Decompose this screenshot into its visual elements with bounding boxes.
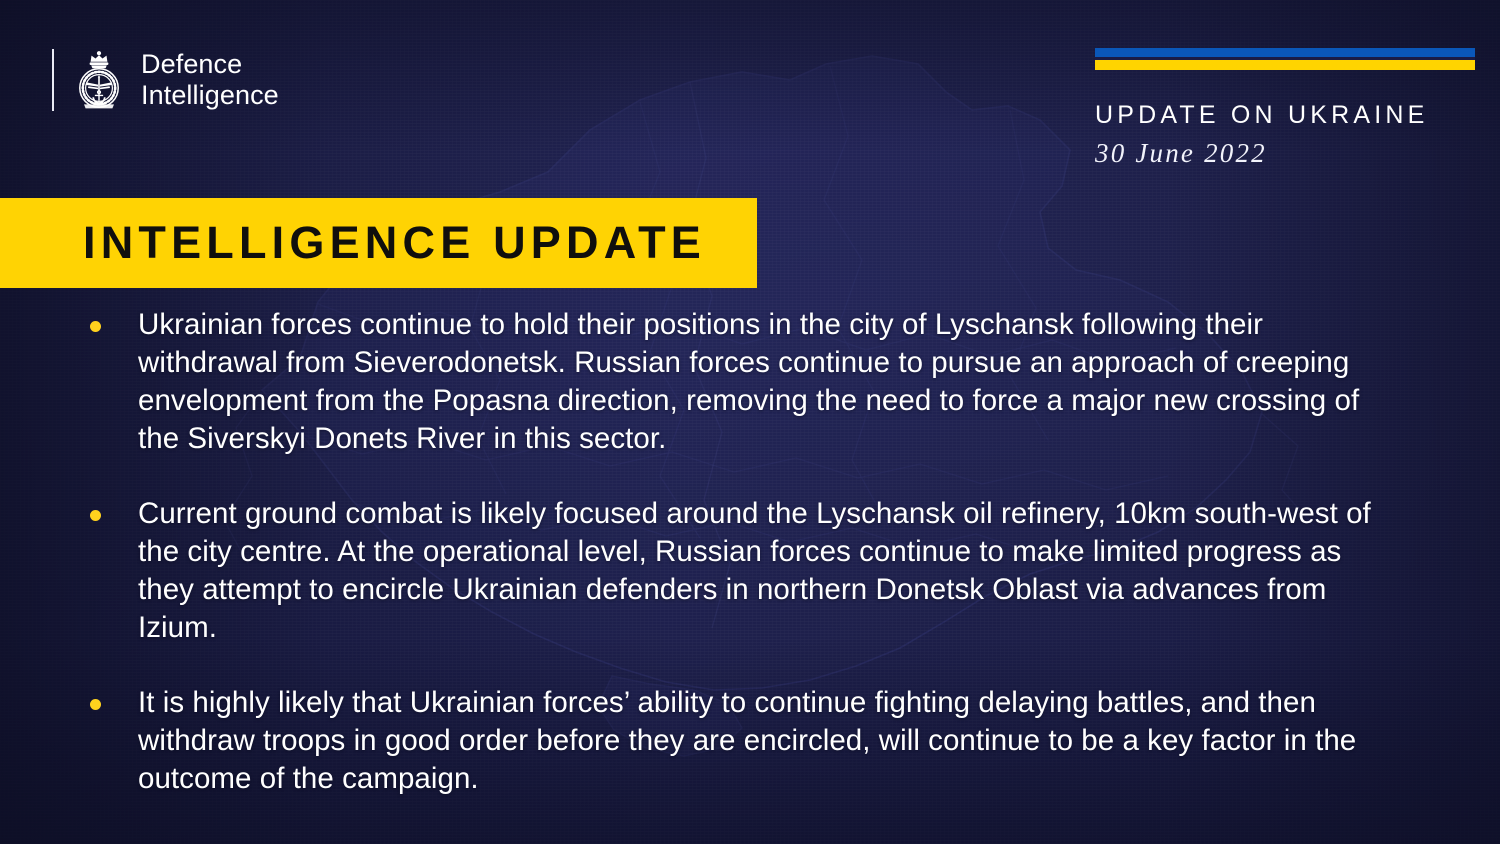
mod-defence-crest-icon	[71, 49, 127, 111]
list-item: It is highly likely that Ukrainian force…	[86, 684, 1376, 798]
list-item: Ukrainian forces continue to hold their …	[86, 306, 1376, 458]
ukraine-flag-bar-icon	[1095, 48, 1475, 70]
list-item: Current ground combat is likely focused …	[86, 495, 1376, 647]
bullet-dot-icon	[90, 510, 101, 521]
flag-stripe-yellow	[1095, 60, 1475, 70]
brand-line-1: Defence	[141, 49, 279, 80]
update-header-block: UPDATE ON UKRAINE 30 June 2022	[1095, 48, 1475, 169]
brand-name: Defence Intelligence	[141, 49, 279, 111]
update-title: UPDATE ON UKRAINE	[1095, 101, 1475, 130]
bullet-dot-icon	[90, 699, 101, 710]
bullet-text: Current ground combat is likely focused …	[138, 495, 1376, 647]
banner-label: INTELLIGENCE UPDATE	[0, 217, 706, 269]
bullet-text: It is highly likely that Ukrainian force…	[138, 684, 1376, 798]
intelligence-update-banner: INTELLIGENCE UPDATE	[0, 198, 757, 288]
bullet-text: Ukrainian forces continue to hold their …	[138, 306, 1376, 458]
defence-intelligence-logo: Defence Intelligence	[52, 44, 279, 116]
logo-divider-rule	[52, 49, 54, 111]
bullet-dot-icon	[90, 321, 101, 332]
brand-line-2: Intelligence	[141, 80, 279, 111]
bullet-list: Ukrainian forces continue to hold their …	[86, 306, 1376, 798]
flag-stripe-blue	[1095, 48, 1475, 57]
intelligence-update-slide: Defence Intelligence UPDATE ON UKRAINE 3…	[0, 0, 1500, 844]
update-date: 30 June 2022	[1095, 138, 1475, 169]
